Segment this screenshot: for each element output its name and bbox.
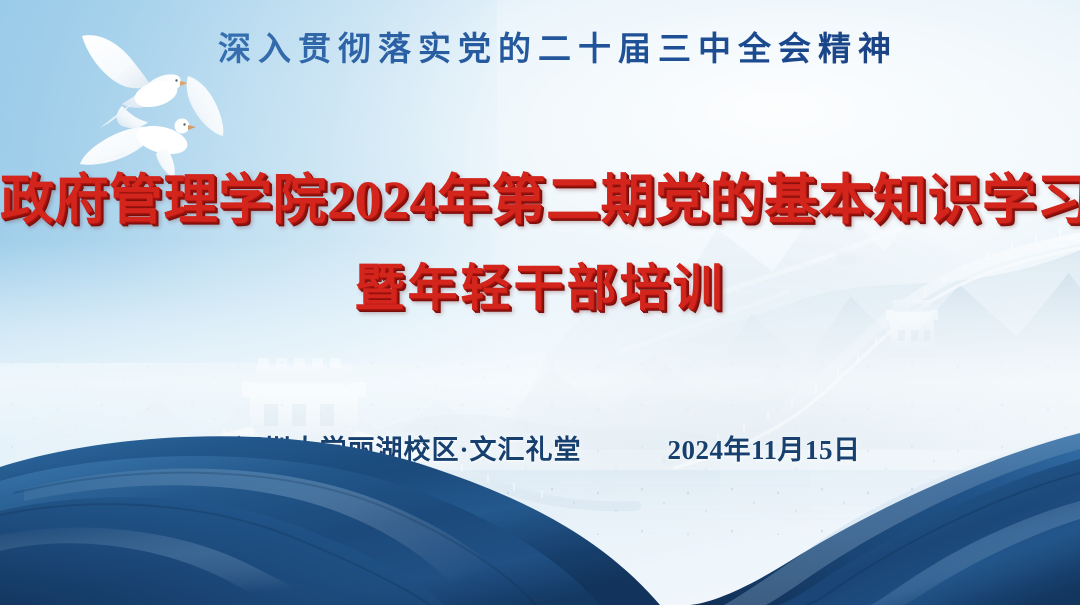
main-title-line-2: 暨年轻干部培训 bbox=[0, 258, 1080, 318]
blue-silk-ribbon bbox=[0, 415, 1080, 605]
main-title-line-1: 政府管理学院2024年第二期党的基本知识学习班 bbox=[0, 168, 1080, 232]
main-title: 政府管理学院2024年第二期党的基本知识学习班 暨年轻干部培训 bbox=[0, 168, 1080, 318]
headline-slogan: 深入贯彻落实党的二十届三中全会精神 bbox=[0, 22, 1080, 70]
poster-canvas: 深入贯彻落实党的二十届三中全会精神 政府管理学院2024年第二期党的基本知识学习… bbox=[0, 0, 1080, 605]
